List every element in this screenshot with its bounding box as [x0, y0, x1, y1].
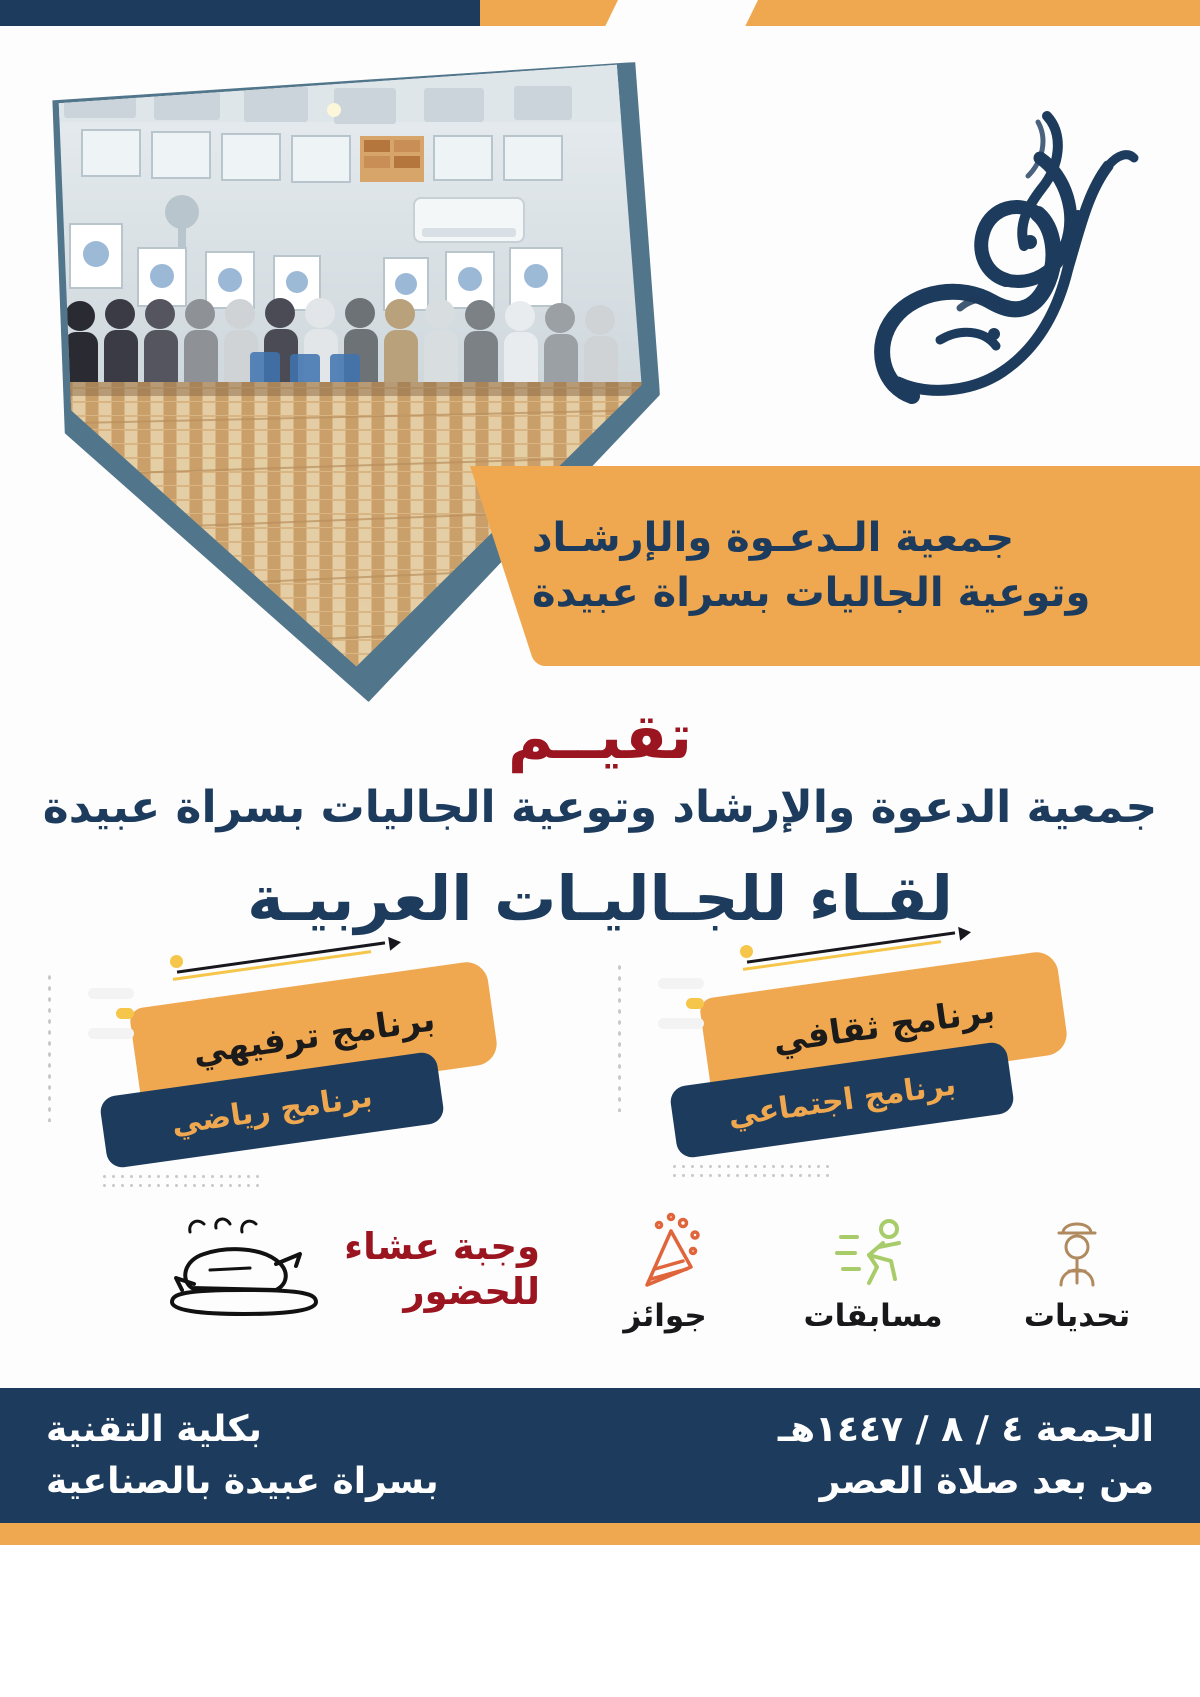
- ribbon-rule-arrow: [177, 941, 385, 973]
- venue-line1: بكلية التقنية: [46, 1404, 439, 1455]
- programs-group-left: برنامج ترفيهي برنامج رياضي: [80, 962, 550, 1172]
- ribbon-dot: [740, 945, 753, 958]
- ribbon-teeth: [74, 988, 134, 1044]
- tooth-gold: [686, 998, 704, 1009]
- program-label-social: برنامج اجتماعي: [726, 1067, 958, 1134]
- ribbon-rule-gold: [743, 940, 941, 971]
- ribbon-teeth: [644, 978, 704, 1034]
- challenge-person-icon: [982, 1204, 1172, 1296]
- dots-decoration: [100, 1172, 260, 1190]
- dots-decoration: [46, 972, 52, 1122]
- event-date: الجمعة ٤ / ٨ / ١٤٤٧هـ: [778, 1404, 1154, 1455]
- association-name-line1: جمعية الـدعـوة والإرشـاد: [532, 511, 1014, 566]
- event-venue: بكلية التقنية بسراة عبيدة بالصناعية: [46, 1404, 439, 1506]
- feature-label-challenges: تحديات: [982, 1298, 1172, 1334]
- feature-prizes: جوائز: [570, 1204, 760, 1334]
- event-time: من بعد صلاة العصر: [778, 1456, 1154, 1507]
- programs-section: برنامج ثقافي برنامج اجتماعي برنامج ترفيه…: [60, 952, 1140, 1182]
- ribbon-rule-arrow: [747, 931, 955, 963]
- running-person-icon: [778, 1204, 968, 1296]
- feature-label-contests: مسابقات: [778, 1298, 968, 1334]
- confetti-prize-icon: [570, 1204, 760, 1296]
- tooth: [88, 988, 134, 999]
- top-bar-orange: [480, 0, 1200, 26]
- tooth: [658, 1018, 704, 1029]
- dots-decoration: [616, 962, 622, 1112]
- footer-bar: الجمعة ٤ / ٨ / ١٤٤٧هـ من بعد صلاة العصر …: [0, 1388, 1200, 1523]
- feature-label-prizes: جوائز: [570, 1298, 760, 1334]
- top-bar-navy: [0, 0, 480, 26]
- ribbon-rule-gold: [173, 950, 371, 981]
- poster-canvas: جمعية الـدعـوة والإرشـاد وتوعية الجاليات…: [0, 0, 1200, 1697]
- event-datetime: الجمعة ٤ / ٨ / ١٤٤٧هـ من بعد صلاة العصر: [778, 1404, 1154, 1506]
- organizer-name: جمعية الدعوة والإرشاد وتوعية الجاليات بس…: [0, 782, 1200, 833]
- footer-accent-bar: [0, 1523, 1200, 1545]
- venue-line2: بسراة عبيدة بالصناعية: [46, 1456, 439, 1507]
- feature-challenges: تحديات: [982, 1204, 1172, 1334]
- dinner-line2: للحضور: [344, 1269, 540, 1314]
- dots-decoration: [670, 1162, 830, 1180]
- event-headline: لقـاء للجـاليـات العربيـة: [0, 862, 1200, 935]
- invitation-verb: تقيــم: [0, 700, 1200, 773]
- tooth-gold: [116, 1008, 134, 1019]
- feature-contests: مسابقات: [778, 1204, 968, 1334]
- programs-group-right: برنامج ثقافي برنامج اجتماعي: [650, 952, 1120, 1162]
- association-name-line2: وتوعية الجاليات بسراة عبيدة: [532, 566, 1090, 621]
- association-banner: جمعية الـدعـوة والإرشـاد وتوعية الجاليات…: [532, 466, 1200, 666]
- tooth: [88, 1028, 134, 1039]
- ribbon-dot: [170, 955, 183, 968]
- dinner-text: وجبة عشاء للحضور: [344, 1224, 540, 1314]
- footer-whitespace: [0, 1545, 1200, 1697]
- dinner-note: وجبة عشاء للحضور: [110, 1214, 540, 1334]
- dinner-line1: وجبة عشاء: [344, 1224, 540, 1269]
- tooth: [658, 978, 704, 989]
- roast-chicken-platter-icon: [150, 1214, 340, 1324]
- top-bar-notch: [605, 0, 758, 26]
- calligraphy-logo: [842, 96, 1142, 426]
- program-label-sports: برنامج رياضي: [169, 1079, 374, 1142]
